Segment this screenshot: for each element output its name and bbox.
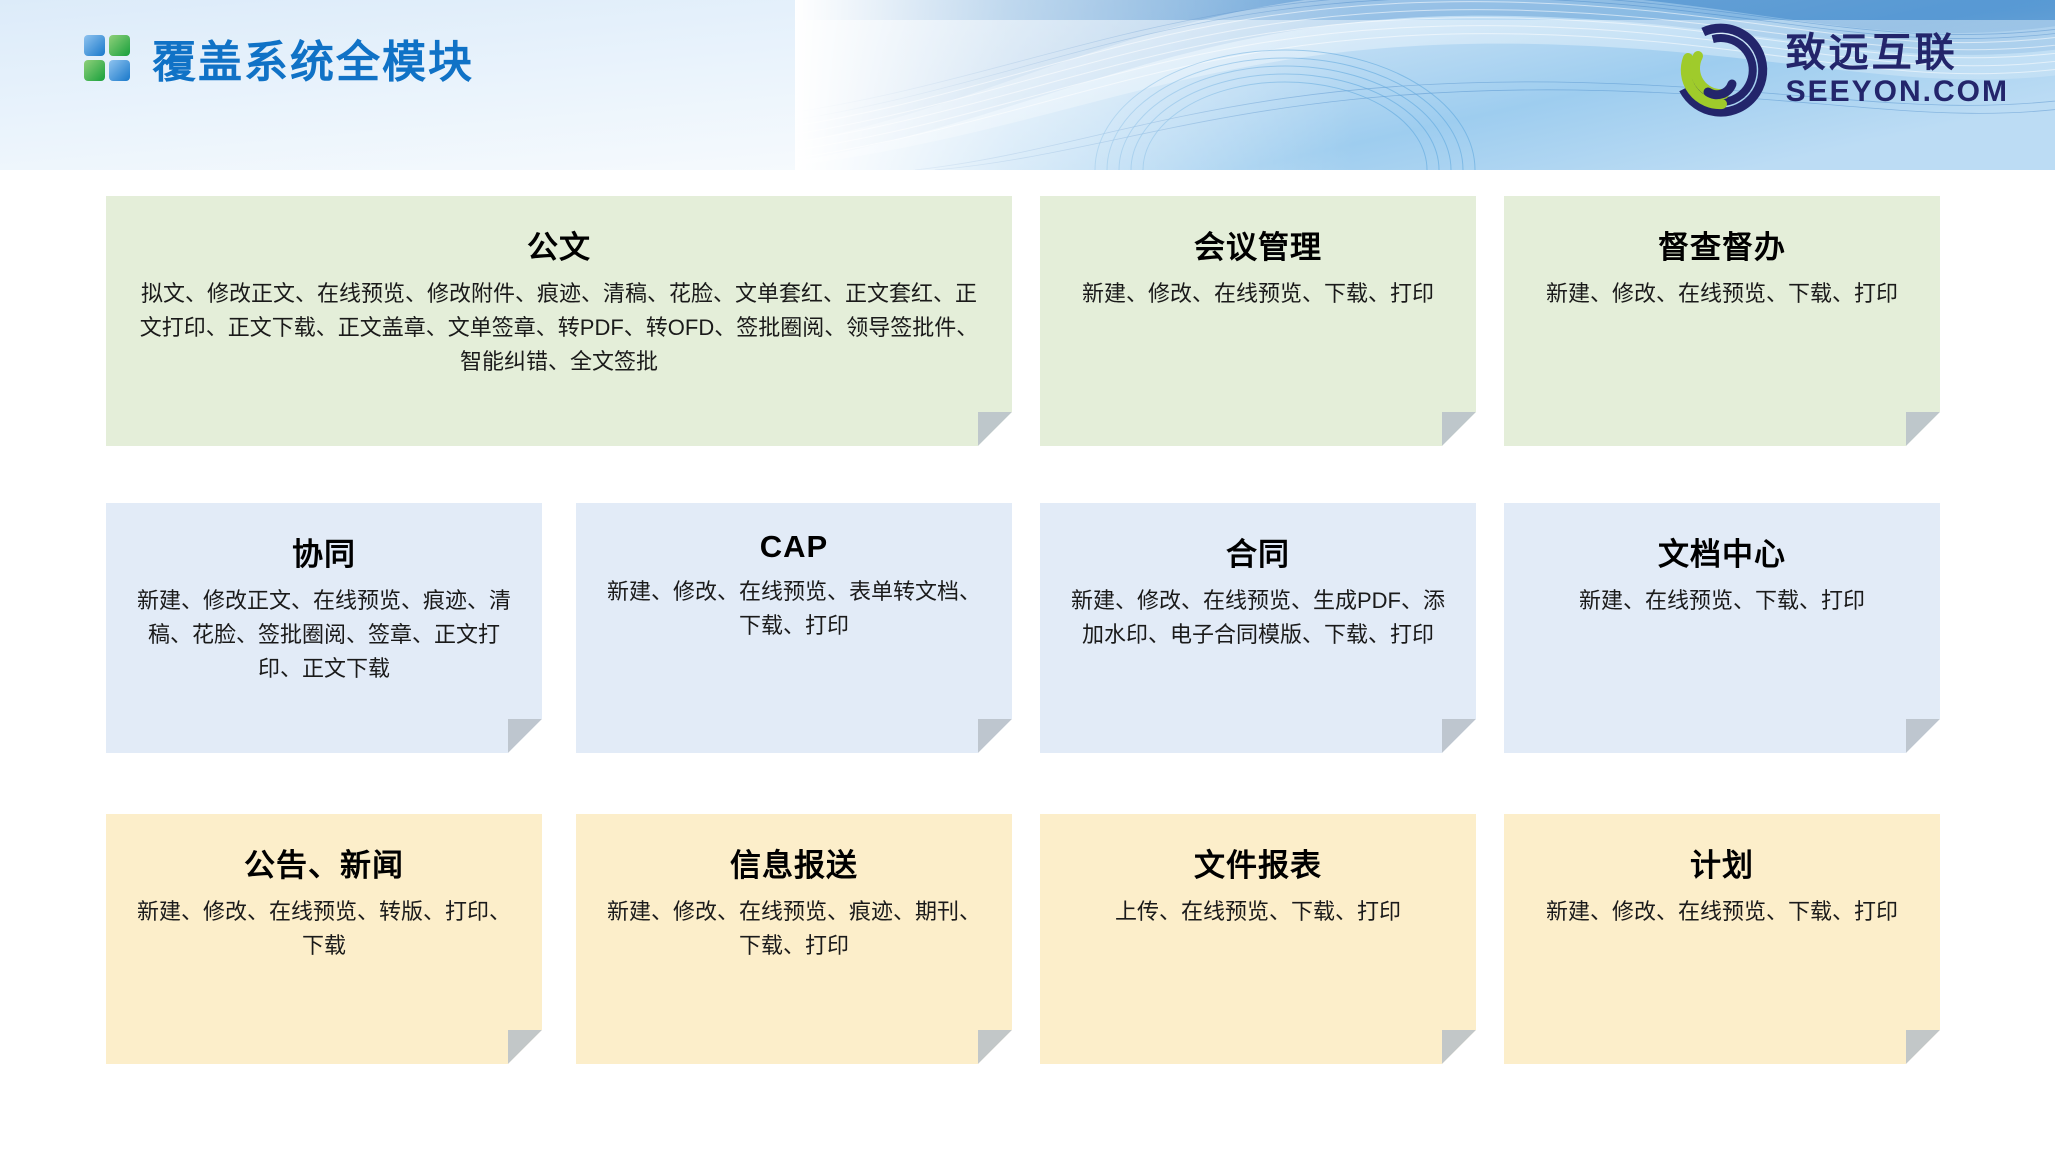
- card-title: 合同: [1062, 529, 1454, 574]
- card-description: 新建、修改、在线预览、表单转文档、下载、打印: [598, 575, 990, 643]
- card-title: 文件报表: [1062, 840, 1454, 885]
- four-squares-icon: [84, 35, 130, 81]
- module-card-gonggao-xinwen[interactable]: 公告、新闻 新建、修改、在线预览、转版、打印、下载: [106, 814, 542, 1064]
- page-fold-mask-icon: [1906, 1030, 1940, 1064]
- module-card-xietong[interactable]: 协同 新建、修改正文、在线预览、痕迹、清稿、花脸、签批圈阅、签章、正文打印、正文…: [106, 503, 542, 753]
- page-fold-mask-icon: [508, 719, 542, 753]
- card-description: 新建、修改、在线预览、下载、打印: [1526, 277, 1918, 311]
- square-top-left-icon: [84, 35, 105, 56]
- card-description: 新建、修改、在线预览、下载、打印: [1526, 895, 1918, 929]
- card-description: 新建、修改、在线预览、转版、打印、下载: [128, 895, 520, 963]
- module-card-xinxibaosong[interactable]: 信息报送 新建、修改、在线预览、痕迹、期刊、下载、打印: [576, 814, 1012, 1064]
- module-card-huiyiguanli[interactable]: 会议管理 新建、修改、在线预览、下载、打印: [1040, 196, 1476, 446]
- card-title: 信息报送: [598, 840, 990, 885]
- page-title-group: 覆盖系统全模块: [84, 26, 474, 90]
- module-card-cap[interactable]: CAP 新建、修改、在线预览、表单转文档、下载、打印: [576, 503, 1012, 753]
- card-title: 计划: [1526, 840, 1918, 885]
- page-fold-mask-icon: [1906, 719, 1940, 753]
- page-fold-mask-icon: [978, 1030, 1012, 1064]
- card-description: 拟文、修改正文、在线预览、修改附件、痕迹、清稿、花脸、文单套红、正文套红、正文打…: [128, 277, 990, 379]
- logo-text-group: 致远互联 SEEYON.COM: [1786, 33, 2009, 107]
- page-fold-mask-icon: [1442, 1030, 1476, 1064]
- square-bottom-right-icon: [109, 60, 130, 81]
- module-card-jihua[interactable]: 计划 新建、修改、在线预览、下载、打印: [1504, 814, 1940, 1064]
- logo-company-domain: SEEYON.COM: [1786, 77, 2009, 107]
- card-description: 新建、修改、在线预览、生成PDF、添加水印、电子合同模版、下载、打印: [1062, 584, 1454, 652]
- card-title: 文档中心: [1526, 529, 1918, 574]
- header-banner: 覆盖系统全模块 致远互联 SEEYON.COM: [0, 0, 2055, 170]
- module-card-wenjianbaobiao[interactable]: 文件报表 上传、在线预览、下载、打印: [1040, 814, 1476, 1064]
- module-card-gongwen[interactable]: 公文 拟文、修改正文、在线预览、修改附件、痕迹、清稿、花脸、文单套红、正文套红、…: [106, 196, 1012, 446]
- card-title: 会议管理: [1062, 222, 1454, 267]
- seeyon-swirl-icon: [1668, 22, 1774, 118]
- card-description: 新建、修改正文、在线预览、痕迹、清稿、花脸、签批圈阅、签章、正文打印、正文下载: [128, 584, 520, 686]
- card-title: 协同: [128, 529, 520, 574]
- card-description: 上传、在线预览、下载、打印: [1062, 895, 1454, 929]
- card-title: 公文: [128, 222, 990, 267]
- page-fold-mask-icon: [1442, 719, 1476, 753]
- card-title: 公告、新闻: [128, 840, 520, 885]
- square-bottom-left-icon: [84, 60, 105, 81]
- page-fold-mask-icon: [978, 719, 1012, 753]
- square-top-right-icon: [109, 35, 130, 56]
- page-title: 覆盖系统全模块: [152, 26, 474, 90]
- brand-logo: 致远互联 SEEYON.COM: [1668, 22, 2009, 118]
- page-fold-mask-icon: [1442, 412, 1476, 446]
- page-fold-mask-icon: [978, 412, 1012, 446]
- module-card-duchadubai[interactable]: 督查督办 新建、修改、在线预览、下载、打印: [1504, 196, 1940, 446]
- page-fold-mask-icon: [1906, 412, 1940, 446]
- card-description: 新建、在线预览、下载、打印: [1526, 584, 1918, 618]
- module-card-wendangzhongxin[interactable]: 文档中心 新建、在线预览、下载、打印: [1504, 503, 1940, 753]
- card-description: 新建、修改、在线预览、下载、打印: [1062, 277, 1454, 311]
- logo-company-name-cn: 致远互联: [1786, 33, 2009, 73]
- page-fold-mask-icon: [508, 1030, 542, 1064]
- card-title: CAP: [598, 529, 990, 565]
- card-title: 督查督办: [1526, 222, 1918, 267]
- module-card-grid: 公文 拟文、修改正文、在线预览、修改附件、痕迹、清稿、花脸、文单套红、正文套红、…: [0, 170, 2055, 1152]
- module-card-hetong[interactable]: 合同 新建、修改、在线预览、生成PDF、添加水印、电子合同模版、下载、打印: [1040, 503, 1476, 753]
- card-description: 新建、修改、在线预览、痕迹、期刊、下载、打印: [598, 895, 990, 963]
